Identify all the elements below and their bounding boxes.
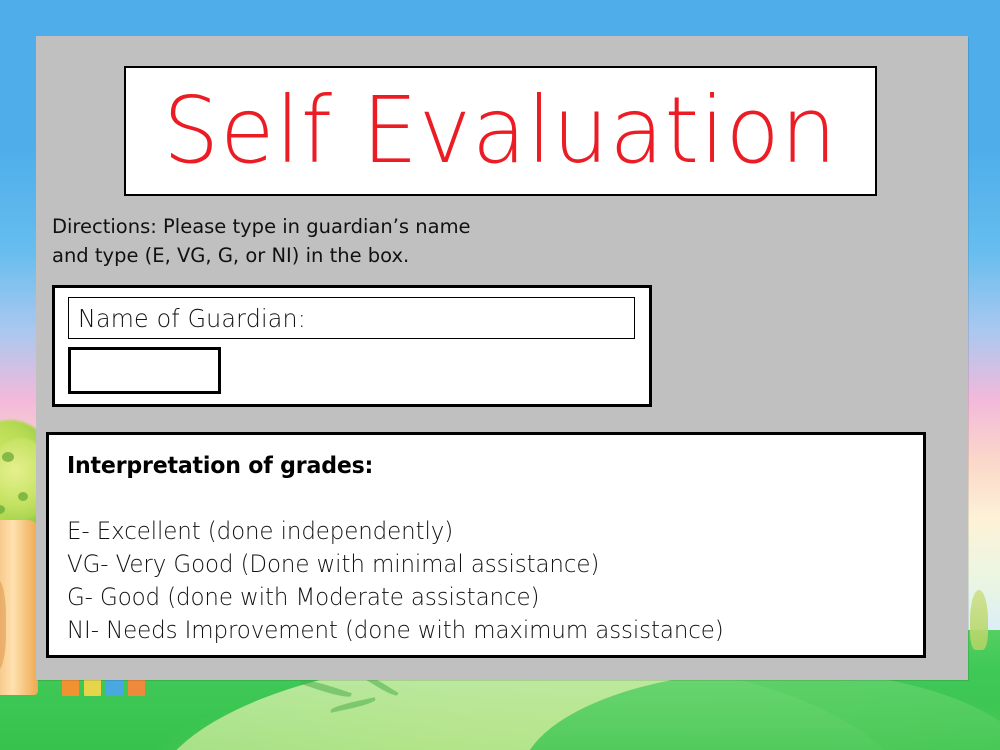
slide-canvas: Self Evaluation Directions: Please type … (0, 0, 1000, 750)
title-banner: Self Evaluation (124, 66, 877, 196)
small-tree-icon (970, 590, 988, 650)
interpretation-heading: Interpretation of grades: (67, 453, 373, 479)
leaf-dot-icon (2, 452, 14, 462)
list-item: VG- Very Good (Done with minimal assista… (67, 548, 879, 581)
interpretation-box: Interpretation of grades: E- Excellent (… (46, 432, 926, 658)
list-item: G- Good (done with Moderate assistance) (67, 581, 879, 614)
grade-input[interactable] (68, 347, 221, 394)
interpretation-list: E- Excellent (done independently) VG- Ve… (67, 515, 917, 647)
directions-line-2: and type (E, VG, G, or NI) in the box. (52, 241, 572, 270)
directions-line-1: Directions: Please type in guardian’s na… (52, 212, 572, 241)
leaf-dot-icon (18, 492, 28, 501)
directions-text: Directions: Please type in guardian’s na… (52, 212, 572, 270)
page-title: Self Evaluation (163, 85, 838, 177)
guardian-name-field[interactable]: Name of Guardian: (68, 297, 635, 339)
guardian-name-label: Name of Guardian: (78, 304, 306, 333)
list-item: E- Excellent (done independently) (67, 515, 879, 548)
list-item: NI- Needs Improvement (done with maximum… (67, 614, 879, 647)
tree-trunk-icon (0, 520, 38, 695)
guardian-entry-box: Name of Guardian: (52, 285, 652, 407)
